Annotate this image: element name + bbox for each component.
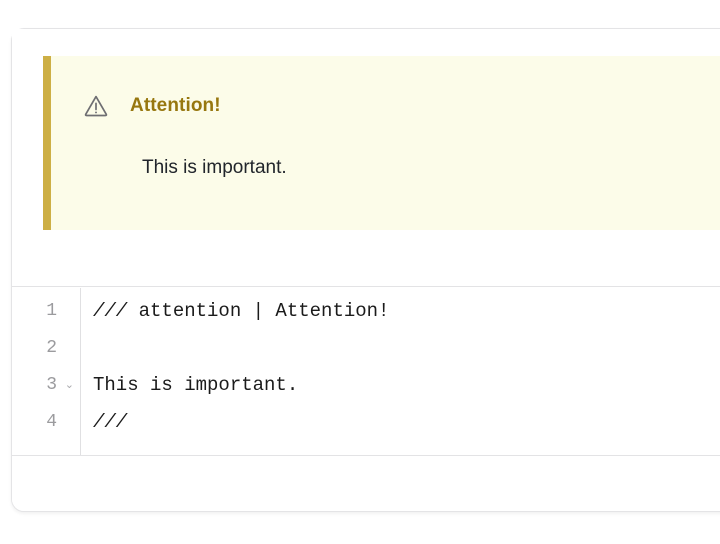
attention-callout: Attention! This is important. <box>43 56 720 230</box>
line-number: 2 <box>12 330 80 367</box>
line-number: 4 <box>12 404 80 441</box>
line-number-label: 4 <box>46 412 57 432</box>
editor-gutter[interactable]: 1 2 3 ⌄ 4 <box>12 288 81 455</box>
document-card: Attention! This is important. 1 2 3 ⌄ 4 <box>11 28 720 512</box>
rendered-preview-pane: Attention! This is important. <box>12 29 720 287</box>
code-token-fence: /// <box>93 411 127 433</box>
code-line[interactable]: /// <box>93 404 720 441</box>
chevron-down-icon[interactable]: ⌄ <box>65 367 74 404</box>
code-line[interactable]: This is important. <box>93 367 720 404</box>
code-token-text: This is important. <box>93 374 298 396</box>
card-footer-area <box>12 457 720 511</box>
line-number-label: 1 <box>46 301 57 321</box>
line-number-label: 3 <box>46 375 57 395</box>
code-line[interactable]: /// attention | Attention! <box>93 293 720 330</box>
line-number-label: 2 <box>46 338 57 358</box>
callout-header: Attention! <box>83 93 221 119</box>
code-line[interactable] <box>93 330 720 367</box>
callout-body-text: This is important. <box>142 157 287 179</box>
editor-code-area[interactable]: /// attention | Attention! This is impor… <box>93 293 720 441</box>
line-number: 1 <box>12 293 80 330</box>
code-token-fence: /// <box>93 300 139 322</box>
callout-title: Attention! <box>130 95 221 117</box>
warning-triangle-icon <box>83 93 109 119</box>
line-number: 3 ⌄ <box>12 367 80 404</box>
code-token-text: attention | Attention! <box>139 300 390 322</box>
source-editor-pane[interactable]: 1 2 3 ⌄ 4 /// attention | Attention! Thi… <box>12 288 720 456</box>
